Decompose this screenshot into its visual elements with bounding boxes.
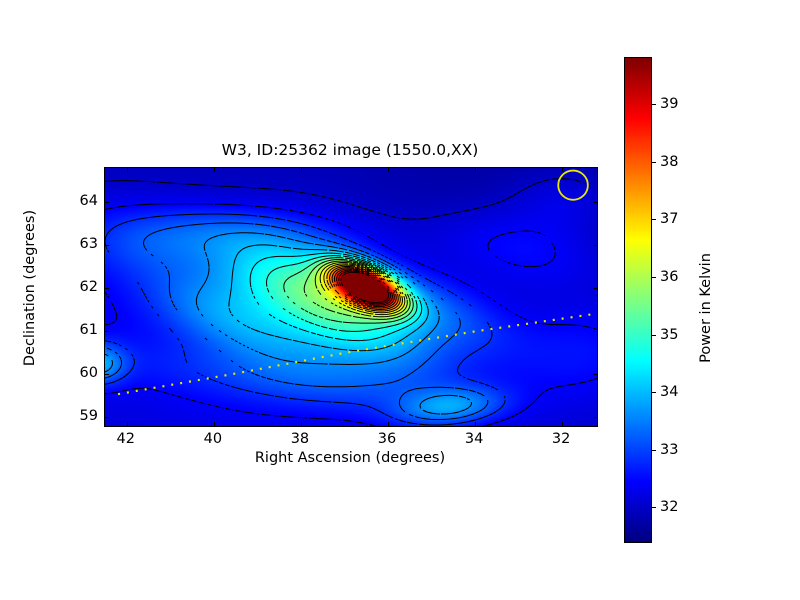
galactic-plane-line bbox=[118, 314, 593, 394]
colorbar-tick-mark bbox=[652, 219, 656, 220]
colorbar-tick-mark bbox=[652, 507, 656, 508]
y-tick-mark bbox=[105, 288, 109, 289]
x-tick-mark bbox=[214, 168, 215, 172]
colorbar-tick-label: 38 bbox=[660, 154, 678, 170]
x-tick-mark bbox=[301, 168, 302, 172]
colorbar-gradient bbox=[624, 57, 652, 543]
axes-inner bbox=[105, 168, 597, 426]
x-tick-label: 36 bbox=[378, 431, 396, 447]
x-tick-label: 38 bbox=[291, 431, 309, 447]
colorbar-tick-mark bbox=[652, 392, 656, 393]
x-tick-mark bbox=[388, 168, 389, 172]
colorbar-tick-label: 36 bbox=[660, 269, 678, 285]
x-axis-title: Right Ascension (degrees) bbox=[104, 450, 596, 466]
colorbar-tick-mark bbox=[652, 162, 656, 163]
annotation-overlay bbox=[105, 168, 597, 426]
colorbar-tick-label: 32 bbox=[660, 499, 678, 515]
x-tick-mark bbox=[475, 168, 476, 172]
y-tick-label: 63 bbox=[56, 236, 98, 252]
y-tick-label: 61 bbox=[56, 322, 98, 338]
x-tick-mark bbox=[301, 422, 302, 426]
x-tick-mark bbox=[475, 422, 476, 426]
y-tick-mark bbox=[593, 331, 597, 332]
y-tick-mark bbox=[593, 202, 597, 203]
y-tick-mark bbox=[105, 374, 109, 375]
colorbar-tick-label: 33 bbox=[660, 442, 678, 458]
colorbar-tick-label: 34 bbox=[660, 384, 678, 400]
y-tick-mark bbox=[593, 245, 597, 246]
y-tick-label: 62 bbox=[56, 279, 98, 295]
colorbar-tick-mark bbox=[652, 335, 656, 336]
x-tick-mark bbox=[562, 168, 563, 172]
y-tick-mark bbox=[105, 417, 109, 418]
y-tick-mark bbox=[593, 288, 597, 289]
figure-canvas: W3, ID:25362 image (1550.0,XX) 424038363… bbox=[0, 0, 800, 600]
colorbar-tick-label: 39 bbox=[660, 96, 678, 112]
contour-plot-axes[interactable] bbox=[104, 167, 598, 427]
y-tick-mark bbox=[105, 331, 109, 332]
colorbar-tick-label: 37 bbox=[660, 211, 678, 227]
x-tick-mark bbox=[562, 422, 563, 426]
y-tick-label: 64 bbox=[56, 193, 98, 209]
x-tick-mark bbox=[127, 168, 128, 172]
y-tick-mark bbox=[593, 374, 597, 375]
colorbar-title: Power in Kelvin bbox=[698, 208, 714, 408]
x-tick-label: 32 bbox=[552, 431, 570, 447]
x-tick-mark bbox=[214, 422, 215, 426]
colorbar[interactable]: 3233343536373839 bbox=[624, 57, 652, 543]
y-axis-title: Declination (degrees) bbox=[22, 198, 38, 378]
colorbar-tick-mark bbox=[652, 277, 656, 278]
target-circle bbox=[558, 171, 588, 200]
y-tick-mark bbox=[105, 245, 109, 246]
y-tick-mark bbox=[105, 202, 109, 203]
colorbar-tick-mark bbox=[652, 104, 656, 105]
y-tick-label: 59 bbox=[56, 408, 98, 424]
y-tick-label: 60 bbox=[56, 365, 98, 381]
x-tick-label: 42 bbox=[117, 431, 135, 447]
x-tick-label: 40 bbox=[204, 431, 222, 447]
y-tick-mark bbox=[593, 417, 597, 418]
x-tick-mark bbox=[388, 422, 389, 426]
page-title: W3, ID:25362 image (1550.0,XX) bbox=[104, 141, 596, 159]
colorbar-tick-label: 35 bbox=[660, 327, 678, 343]
x-tick-label: 34 bbox=[465, 431, 483, 447]
x-tick-mark bbox=[127, 422, 128, 426]
colorbar-tick-mark bbox=[652, 450, 656, 451]
